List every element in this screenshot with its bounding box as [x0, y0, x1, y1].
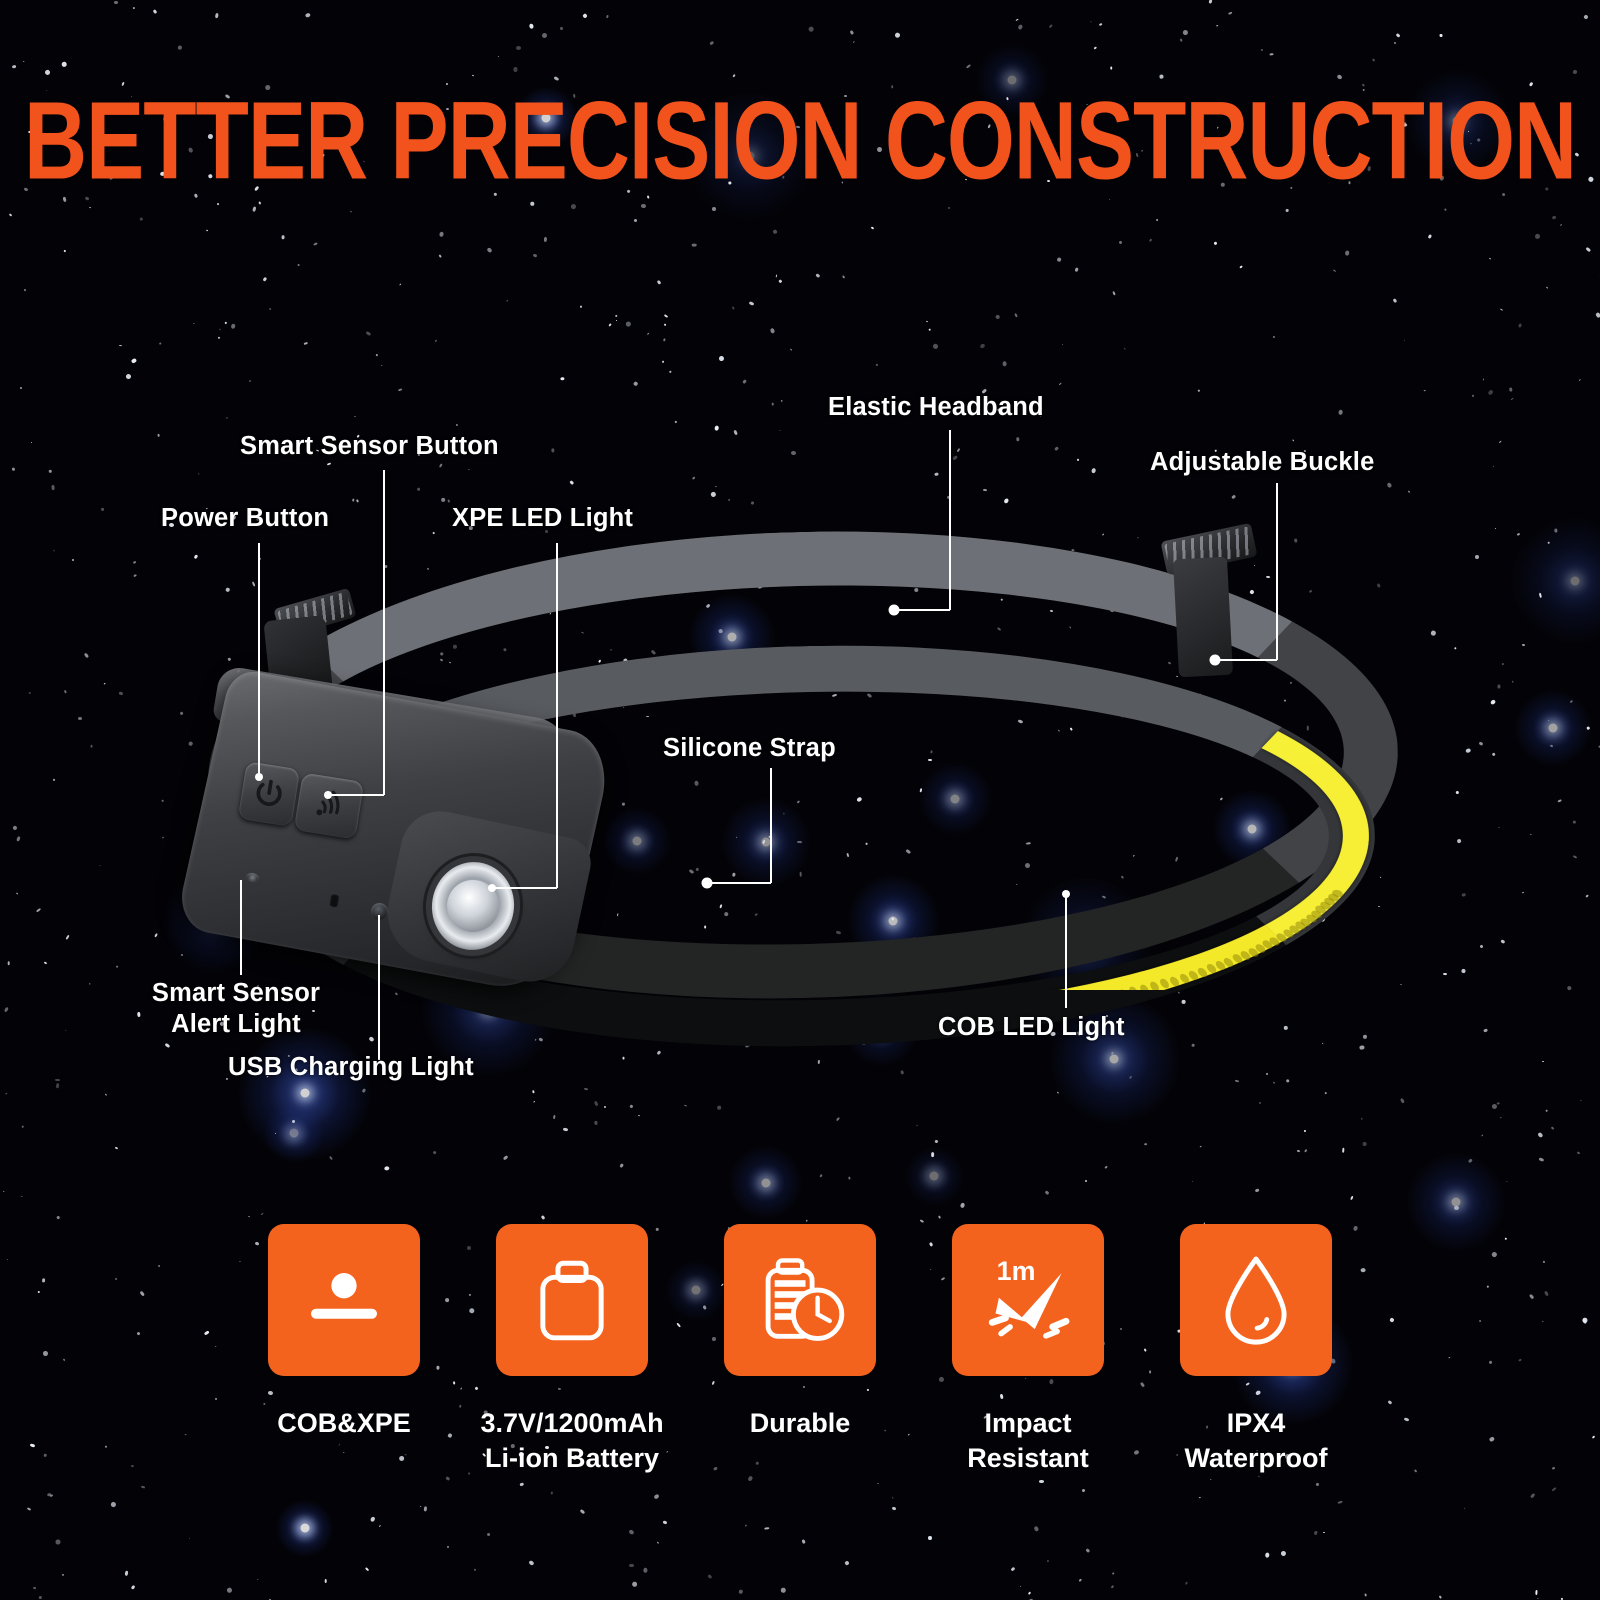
feature-label-cob-xpe: COB&XPE	[277, 1406, 411, 1441]
leader-dot-xpe-led	[488, 884, 496, 892]
callout-label-silicone-strap: Silicone Strap	[663, 733, 836, 764]
leader-adjustable-buckle-h	[1213, 659, 1277, 661]
callout-label-usb-charging-light: USB Charging Light	[228, 1052, 474, 1083]
page-title: BETTER PRECISION CONSTRUCTION	[0, 98, 1600, 182]
leader-adjustable-buckle-v	[1276, 483, 1278, 660]
infographic-canvas: BETTER PRECISION CONSTRUCTION	[0, 0, 1600, 1600]
callout-label-smart-sensor-alert-light: Smart Sensor Alert Light	[152, 978, 320, 1040]
feature-impact: 1m Impact Resistant	[952, 1224, 1104, 1475]
leader-elastic-headband-h	[893, 609, 950, 611]
feature-tile-durable	[724, 1224, 876, 1376]
feature-tile-waterproof	[1180, 1224, 1332, 1376]
power-button[interactable]	[238, 761, 300, 827]
smart-sensor-button[interactable]	[294, 773, 364, 840]
leader-silicone-strap-h	[706, 882, 771, 884]
impact-height-badge: 1m	[997, 1256, 1036, 1286]
feature-tile-impact: 1m	[952, 1224, 1104, 1376]
leader-smart-sensor-button-v	[383, 470, 385, 795]
leader-xpe-led-v	[556, 543, 558, 888]
leader-dot-elastic-headband	[889, 605, 900, 616]
callout-label-cob-led-light: COB LED Light	[938, 1012, 1125, 1043]
feature-label-durable: Durable	[750, 1406, 851, 1441]
leader-power-button	[258, 543, 260, 775]
feature-cob-xpe: COB&XPE	[268, 1224, 420, 1475]
battery-cell-icon	[518, 1246, 626, 1354]
leader-dot-smart-sensor-button	[324, 791, 332, 799]
feature-durable: Durable	[724, 1224, 876, 1475]
leader-elastic-headband-v	[949, 430, 951, 610]
leader-smart-sensor-button-h	[327, 794, 384, 796]
feature-tile-battery	[496, 1224, 648, 1376]
feature-label-impact: Impact Resistant	[967, 1406, 1089, 1475]
water-drop-icon	[1202, 1246, 1310, 1354]
callout-label-xpe-led-light: XPE LED Light	[452, 503, 633, 534]
feature-waterproof: IPX4 Waterproof	[1180, 1224, 1332, 1475]
callout-label-power-button: Power Button	[161, 503, 329, 534]
leader-dot-adjustable-buckle	[1210, 655, 1221, 666]
feature-battery: 3.7V/1200mAh Li-ion Battery	[496, 1224, 648, 1475]
leader-xpe-led-h	[490, 887, 557, 889]
leader-dot-power-button	[255, 773, 263, 781]
leader-usb-charging-light	[378, 915, 380, 1060]
leader-sensor-alert-light	[240, 880, 242, 975]
feature-tile-cob-xpe	[268, 1224, 420, 1376]
drop-impact-icon: 1m	[972, 1244, 1084, 1356]
feature-row: COB&XPE 3.7V/1200mAh Li-ion Battery	[0, 1224, 1600, 1475]
callout-label-elastic-headband: Elastic Headband	[828, 392, 1044, 423]
leader-dot-cob-led-light	[1062, 890, 1070, 898]
leader-silicone-strap-v	[770, 768, 772, 883]
feature-label-battery: 3.7V/1200mAh Li-ion Battery	[480, 1406, 663, 1475]
led-dot-bar-icon	[289, 1245, 399, 1355]
callout-label-adjustable-buckle: Adjustable Buckle	[1150, 447, 1374, 478]
leader-cob-led-light	[1065, 893, 1067, 1008]
page-title-text: BETTER PRECISION CONSTRUCTION	[24, 85, 1576, 196]
battery-clock-icon	[745, 1245, 855, 1355]
leader-dot-silicone-strap	[702, 878, 713, 889]
callout-label-smart-sensor-button: Smart Sensor Button	[240, 431, 499, 462]
feature-label-waterproof: IPX4 Waterproof	[1185, 1406, 1328, 1475]
